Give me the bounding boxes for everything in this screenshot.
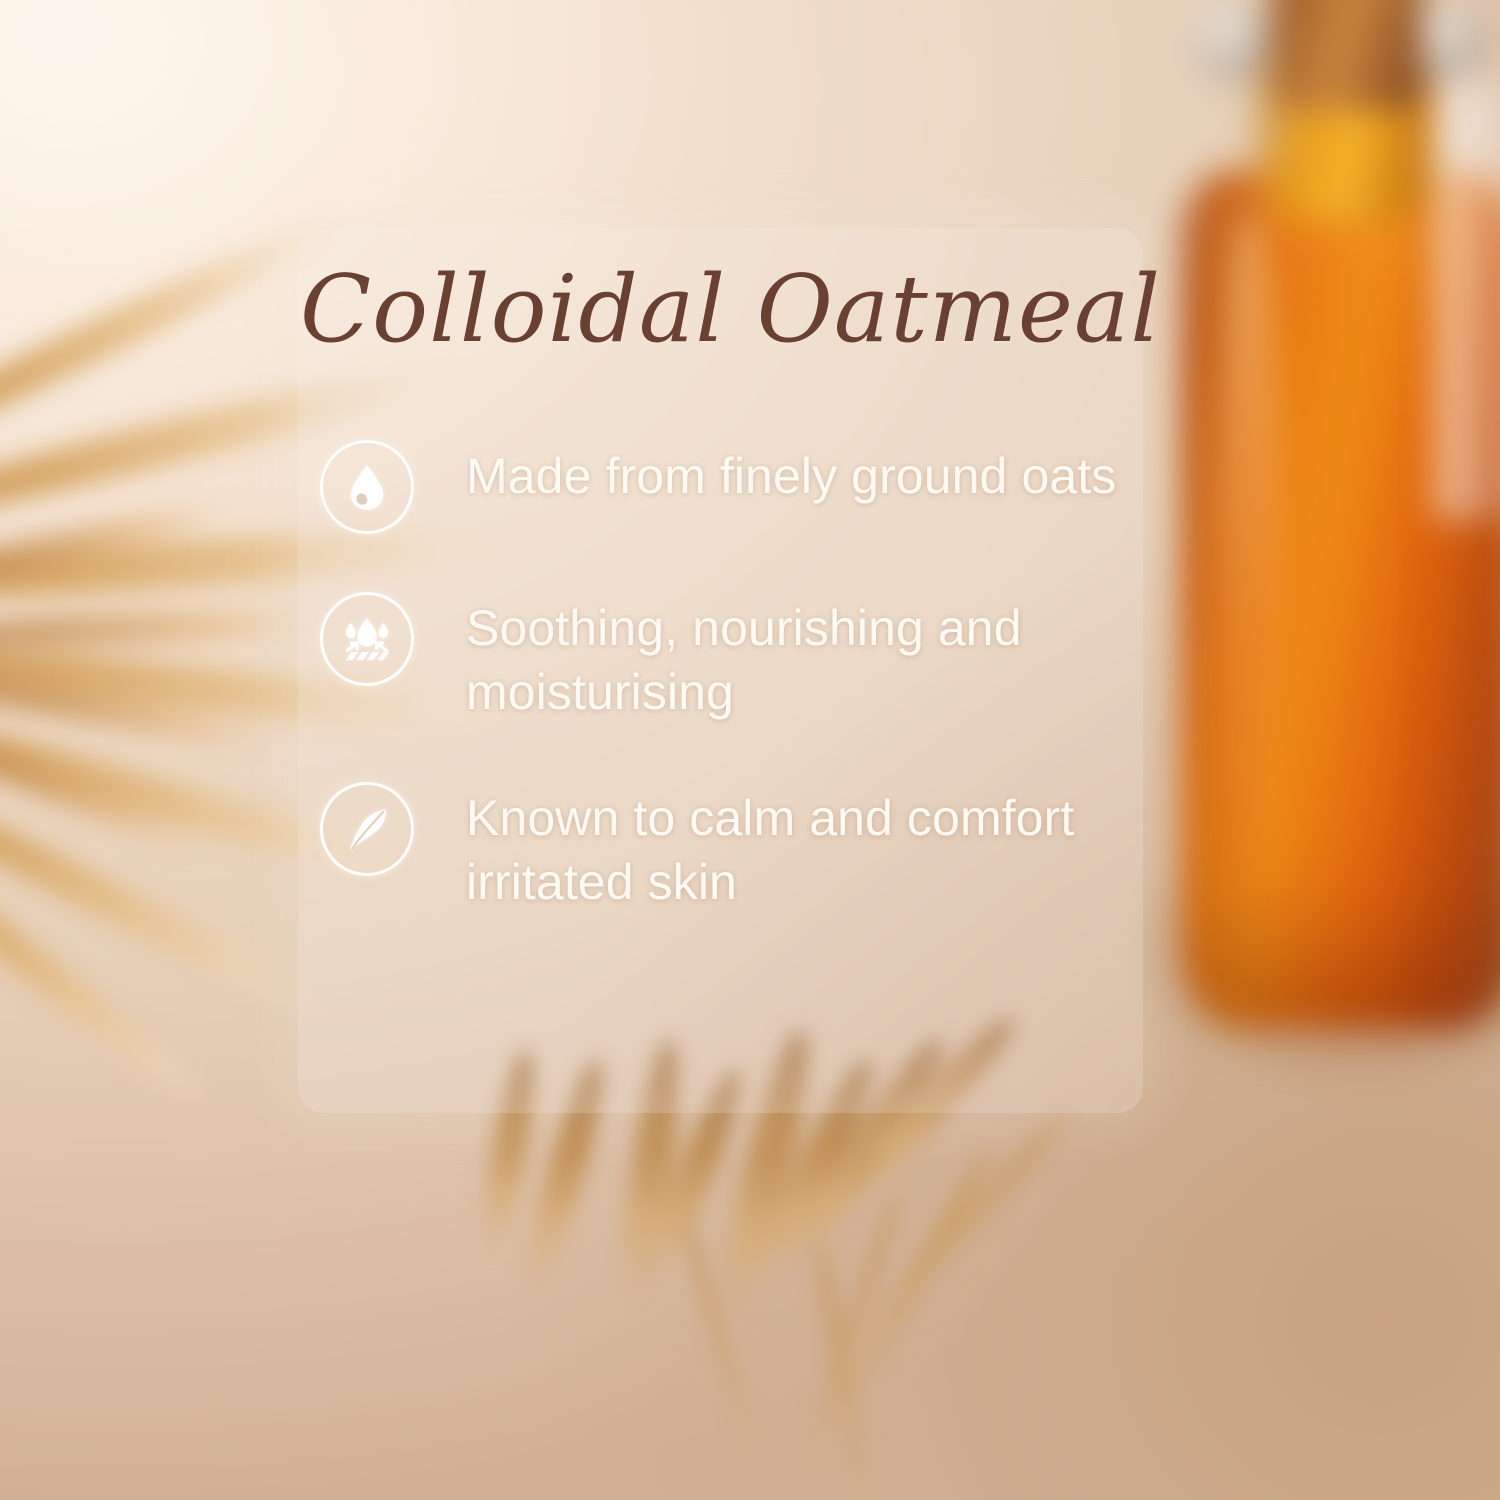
water-droplet-icon (320, 440, 414, 534)
list-item-label: Made from finely ground oats (466, 440, 1116, 508)
list-item: Made from finely ground oats (320, 440, 1150, 534)
list-item: Soothing, nourishing and moisturising (320, 592, 1150, 724)
oil-bottle-graphic (1135, 0, 1500, 1140)
list-item-label: Soothing, nourishing and moisturising (466, 592, 1150, 724)
list-item-label: Known to calm and comfort irritated skin (466, 782, 1150, 914)
feather-icon (320, 782, 414, 876)
list-item: Known to calm and comfort irritated skin (320, 782, 1150, 914)
moisturising-skin-droplet-icon (320, 592, 414, 686)
product-benefit-card: Colloidal Oatmeal Made from finely groun… (0, 0, 1500, 1500)
feature-list: Made from finely ground oats (320, 440, 1150, 914)
page-title: Colloidal Oatmeal (300, 262, 1140, 357)
